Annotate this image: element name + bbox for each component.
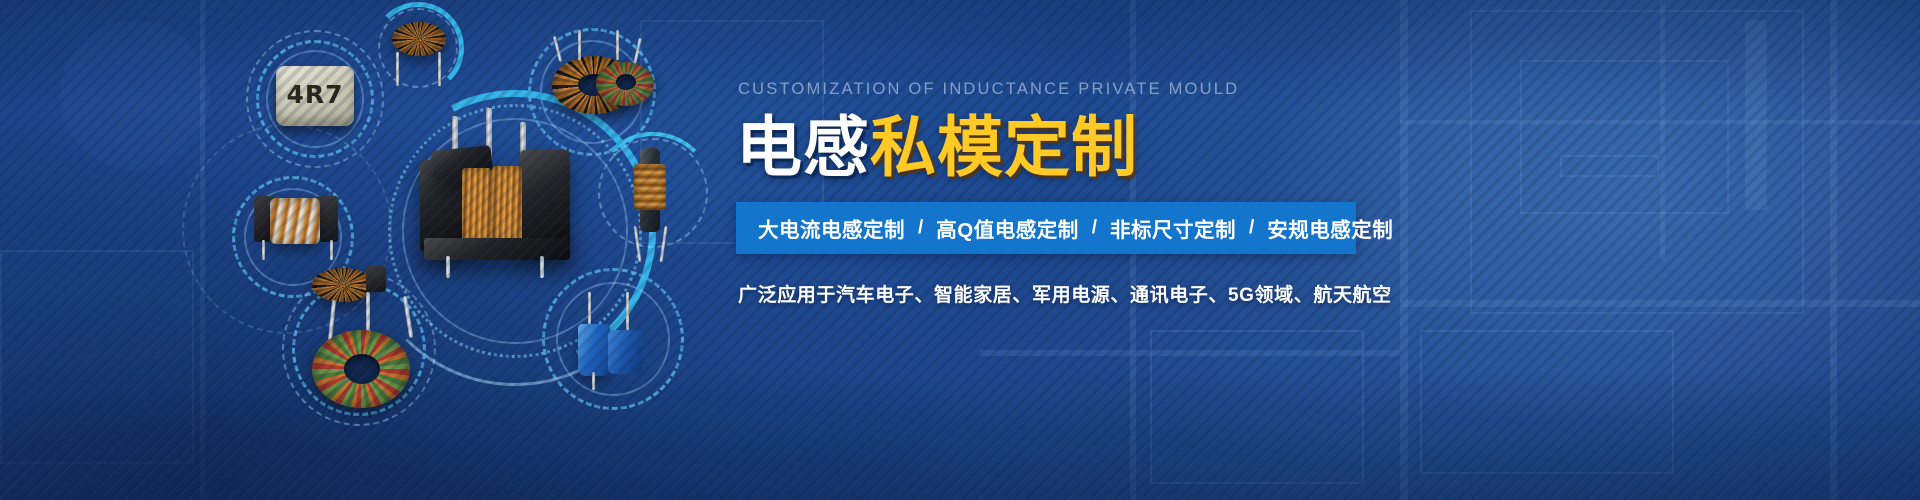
service-item-nonstandard-size[interactable]: 非标尺寸定制 [1110,213,1236,243]
headline-primary: 电感 [736,110,870,184]
service-item-high-current[interactable]: 大电流电感定制 [758,213,905,243]
application-fields-text: 广泛应用于汽车电子、智能家居、军用电源、通讯电子、5G领域、航天航空 [738,280,1376,307]
banner-text-block: CUSTOMIZATION OF INDUCTANCE PRIVATE MOUL… [736,80,1376,307]
service-item-high-q[interactable]: 高Q值电感定制 [936,213,1078,243]
english-tagline: CUSTOMIZATION OF INDUCTANCE PRIVATE MOUL… [738,80,1376,99]
service-list: 大电流电感定制 / 高Q值电感定制 / 非标尺寸定制 / 安规电感定制 [758,213,1393,243]
service-list-bar: 大电流电感定制 / 高Q值电感定制 / 非标尺寸定制 / 安规电感定制 [736,202,1356,254]
service-separator: / [905,217,936,239]
service-separator: / [1236,217,1267,239]
promo-banner: 4R7 [0,0,1920,500]
service-item-safety-standard[interactable]: 安规电感定制 [1267,213,1393,243]
headline-accent: 私模定制 [870,110,1138,184]
service-separator: / [1079,217,1110,239]
page-title: 电感私模定制 [736,113,1376,182]
